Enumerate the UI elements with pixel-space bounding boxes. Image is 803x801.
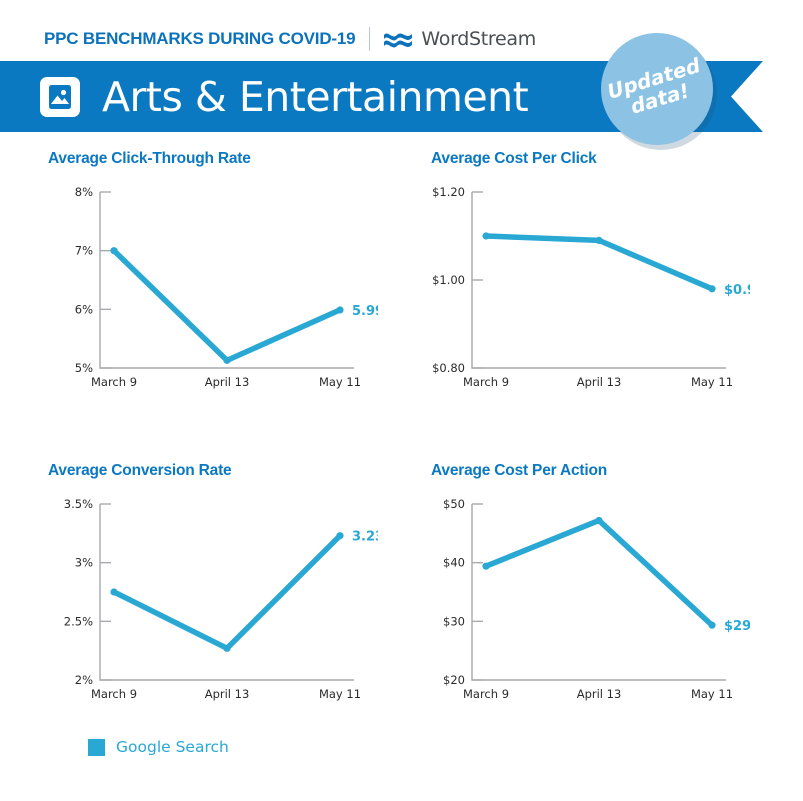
- chart-legend: Google Search: [88, 738, 229, 756]
- svg-text:April 13: April 13: [205, 687, 250, 701]
- svg-text:$20: $20: [443, 673, 465, 687]
- chart-title: Average Cost Per Action: [420, 462, 803, 480]
- banner-content: Arts & Entertainment: [0, 61, 528, 132]
- svg-text:6%: 6%: [75, 302, 93, 316]
- header-divider: [369, 27, 370, 51]
- charts-row-top: Average Click-Through Rate 8%7%6%5%March…: [0, 150, 803, 400]
- chart-value-label: 3.23%: [352, 530, 378, 545]
- chart-title: Average Conversion Rate: [48, 462, 400, 480]
- svg-text:April 13: April 13: [205, 375, 250, 389]
- badge-text: Updated data!: [605, 55, 709, 123]
- chart-value-label: $29.34: [724, 619, 750, 634]
- image-icon: [40, 77, 80, 117]
- svg-text:3%: 3%: [75, 556, 93, 570]
- updated-data-badge: Updated data!: [601, 33, 713, 145]
- svg-text:2%: 2%: [75, 673, 93, 687]
- svg-text:8%: 8%: [75, 185, 93, 199]
- svg-text:May 11: May 11: [319, 687, 361, 701]
- legend-label-google-search: Google Search: [116, 738, 229, 756]
- chart-value-label: 5.99%: [352, 304, 378, 319]
- svg-text:May 11: May 11: [691, 375, 733, 389]
- svg-text:5%: 5%: [75, 361, 93, 375]
- chart-avg-cost-per-action: Average Cost Per Action $50$40$30$20Marc…: [400, 462, 803, 712]
- charts-row-bottom: Average Conversion Rate 3.5%3%2.5%2%Marc…: [0, 462, 803, 712]
- chart-title: Average Cost Per Click: [420, 150, 803, 168]
- svg-text:$1.00: $1.00: [432, 273, 465, 287]
- svg-text:May 11: May 11: [319, 375, 361, 389]
- page-kicker: PPC BENCHMARKS DURING COVID-19: [44, 29, 355, 49]
- svg-text:3.5%: 3.5%: [64, 497, 93, 511]
- chart-title: Average Click-Through Rate: [48, 150, 400, 168]
- chart-plot: $1.20$1.00$0.80March 9April 13May 11$0.9…: [420, 182, 803, 400]
- svg-text:7%: 7%: [75, 244, 93, 258]
- svg-text:March 9: March 9: [91, 687, 137, 701]
- waves-icon: [383, 29, 413, 49]
- svg-text:$50: $50: [443, 497, 465, 511]
- chart-plot: $50$40$30$20March 9April 13May 11$29.34: [420, 494, 803, 712]
- chart-plot: 8%7%6%5%March 9April 13May 115.99%: [48, 182, 400, 400]
- legend-swatch-google-search: [88, 739, 105, 756]
- svg-text:$30: $30: [443, 614, 465, 628]
- svg-text:$1.20: $1.20: [432, 185, 465, 199]
- svg-text:April 13: April 13: [577, 375, 622, 389]
- wordstream-name: WordStream: [421, 28, 536, 50]
- svg-text:$40: $40: [443, 556, 465, 570]
- wordstream-logo: WordStream: [383, 28, 536, 50]
- charts-grid: Average Click-Through Rate 8%7%6%5%March…: [0, 150, 803, 712]
- chart-avg-cost-per-click: Average Cost Per Click $1.20$1.00$0.80Ma…: [400, 150, 803, 400]
- chart-plot: 3.5%3%2.5%2%March 9April 13May 113.23%: [48, 494, 400, 712]
- svg-text:March 9: March 9: [463, 687, 509, 701]
- chart-value-label: $0.98: [724, 283, 750, 298]
- chart-avg-click-through-rate: Average Click-Through Rate 8%7%6%5%March…: [0, 150, 400, 400]
- chart-avg-conversion-rate: Average Conversion Rate 3.5%3%2.5%2%Marc…: [0, 462, 400, 712]
- svg-text:March 9: March 9: [91, 375, 137, 389]
- page-title: Arts & Entertainment: [102, 73, 528, 121]
- svg-text:2.5%: 2.5%: [64, 614, 93, 628]
- svg-text:May 11: May 11: [691, 687, 733, 701]
- svg-text:$0.80: $0.80: [432, 361, 465, 375]
- svg-text:April 13: April 13: [577, 687, 622, 701]
- svg-text:March 9: March 9: [463, 375, 509, 389]
